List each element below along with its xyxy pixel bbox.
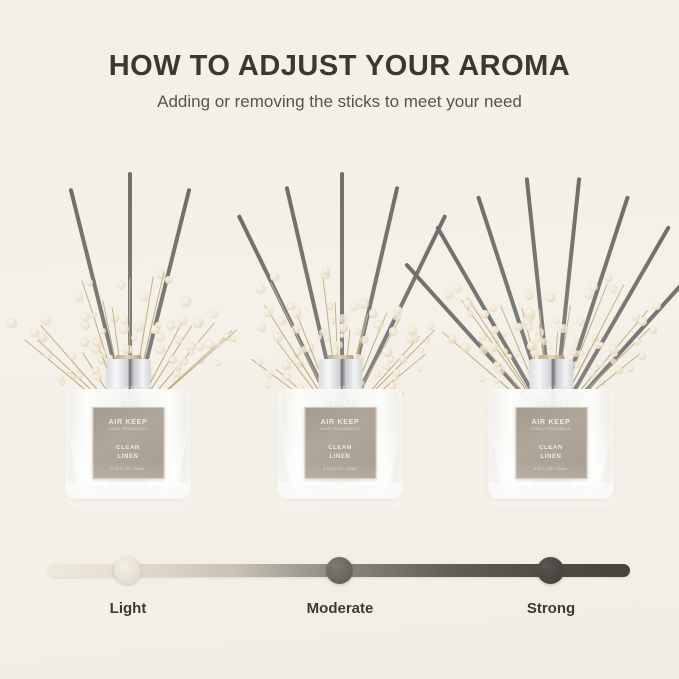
slider-label-strong: Strong: [471, 600, 631, 617]
intensity-slider[interactable]: Light Moderate Strong: [0, 540, 679, 640]
flower-bloom: [650, 327, 657, 334]
flower-bloom: [81, 321, 90, 330]
flower-bloom: [165, 276, 173, 284]
label-brand: AIR KEEP: [321, 419, 360, 426]
flower-bloom: [257, 323, 266, 332]
flower-bloom: [546, 294, 555, 303]
flower-bloom: [76, 372, 83, 379]
flower-bloom: [181, 297, 191, 307]
flower-bloom: [614, 366, 623, 375]
flower-bloom: [577, 318, 584, 325]
slider-knob-strong[interactable]: [537, 557, 564, 584]
flower-bloom: [81, 313, 90, 322]
label-brand-subtitle: HOME FRAGRANCE: [320, 428, 359, 431]
flower-bloom: [388, 356, 394, 362]
label-scent-name: CLEAN LINEN: [539, 444, 563, 461]
label-scent-line1: CLEAN: [539, 445, 563, 451]
product-group-moderate: AIR KEEP AIR KEEP HOME FRAGRANCE CLEAN L…: [225, 99, 455, 499]
flower-bloom: [373, 370, 381, 378]
flower-bloom: [445, 291, 453, 299]
label-brand: AIR KEEP: [109, 419, 148, 426]
label-scent-line2: LINEN: [329, 454, 350, 460]
flower-bloom: [383, 363, 389, 369]
flower-bloom: [609, 285, 617, 293]
bottle-reflection: [489, 461, 614, 507]
flower-bloom: [327, 303, 334, 310]
flower-bloom: [205, 340, 214, 349]
label-scent-line2: LINEN: [117, 454, 138, 460]
flower-bloom: [374, 321, 383, 330]
flower-bloom: [270, 273, 278, 281]
flower-bloom: [453, 284, 462, 293]
flower-bloom: [277, 317, 285, 325]
flower-bloom: [338, 314, 347, 323]
flower-bloom: [256, 358, 263, 365]
flower-bloom: [338, 323, 348, 333]
flower-bloom: [7, 318, 17, 328]
label-brand: AIR KEEP: [532, 419, 571, 426]
product-group-light: AIR KEEP AIR KEEP HOME FRAGRANCE CLEAN L…: [13, 99, 243, 499]
flower-bloom: [525, 324, 532, 331]
flower-bloom: [610, 358, 616, 364]
flower-bloom: [573, 361, 580, 368]
aroma-infographic: HOW TO ADJUST YOUR AROMA Adding or remov…: [0, 0, 679, 679]
label-brand-subtitle: HOME FRAGRANCE: [108, 428, 147, 431]
flower-bloom: [140, 293, 148, 301]
flower-bloom: [324, 335, 330, 341]
flower-bloom: [155, 322, 161, 328]
flower-bloom: [210, 310, 219, 319]
page-title: HOW TO ADJUST YOUR AROMA: [0, 50, 679, 83]
flower-bloom: [334, 349, 340, 355]
flower-bloom: [389, 327, 397, 335]
bottle-reflection: [278, 461, 403, 507]
slider-knob-moderate[interactable]: [326, 557, 353, 584]
flower-bloom: [490, 305, 497, 312]
slider-label-light: Light: [48, 600, 208, 617]
flower-bloom: [502, 332, 507, 337]
flower-bloom: [265, 369, 273, 377]
flower-bloom: [463, 299, 472, 308]
label-scent-name: CLEAN LINEN: [116, 444, 140, 461]
flower-bloom: [173, 362, 182, 371]
flower-bloom: [264, 307, 273, 316]
flower-bloom: [461, 343, 470, 352]
flower-bloom: [117, 281, 125, 289]
flower-bloom: [102, 350, 107, 355]
flower-bloom: [399, 355, 407, 363]
flower-bloom: [634, 338, 641, 345]
flower-bloom: [179, 317, 187, 325]
flower-bloom: [427, 322, 435, 330]
flower-bloom: [256, 284, 266, 294]
flower-bloom: [69, 353, 76, 360]
bottle-reflection: [66, 461, 191, 507]
flower-bloom: [480, 376, 485, 381]
flower-bloom: [369, 309, 378, 318]
flower-bloom: [301, 346, 307, 352]
label-brand-subtitle: HOME FRAGRANCE: [531, 428, 570, 431]
flower-bloom: [75, 293, 83, 301]
diffuser-bottle-strong: AIR KEEP AIR KEEP HOME FRAGRANCE CLEAN L…: [489, 381, 614, 499]
flower-bloom: [525, 291, 534, 300]
flower-bloom: [350, 303, 358, 311]
flower-bloom: [119, 324, 129, 334]
flower-bloom: [282, 361, 291, 370]
flower-bloom: [156, 345, 165, 354]
flower-bloom: [60, 380, 65, 385]
flower-bloom: [547, 345, 552, 350]
flower-bloom: [467, 310, 474, 317]
flower-bloom: [605, 275, 613, 283]
flower-bloom: [417, 366, 422, 371]
flower-bloom: [578, 350, 584, 356]
flower-bloom: [121, 316, 128, 323]
flower-bloom: [627, 365, 634, 372]
flower-bloom: [480, 310, 488, 318]
flower-bloom: [216, 361, 221, 366]
flower-bloom: [175, 336, 184, 345]
flower-bloom: [131, 335, 137, 341]
label-scent-name: CLEAN LINEN: [328, 444, 352, 461]
flower-bloom: [265, 383, 270, 388]
flower-bloom: [195, 342, 204, 351]
flower-bloom: [525, 308, 535, 318]
flower-bloom: [317, 335, 322, 340]
flower-bloom: [340, 333, 345, 338]
flower-bloom: [134, 323, 143, 332]
label-scent-line1: CLEAN: [328, 445, 352, 451]
label-scent-line1: CLEAN: [116, 445, 140, 451]
flower-bloom: [91, 313, 97, 319]
flower-bloom: [101, 328, 106, 333]
diffuser-bottle-moderate: AIR KEEP AIR KEEP HOME FRAGRANCE CLEAN L…: [278, 381, 403, 499]
flower-bloom: [479, 345, 489, 355]
flower-bloom: [156, 333, 165, 342]
flower-bloom: [553, 318, 559, 324]
flower-bloom: [639, 352, 646, 359]
flower-bloom: [496, 366, 505, 375]
flower-bloom: [189, 350, 194, 355]
flower-bloom: [507, 354, 512, 359]
flower-bloom: [513, 350, 519, 356]
slider-label-moderate: Moderate: [260, 600, 420, 617]
flower-bloom: [393, 375, 398, 380]
flower-bloom: [489, 342, 498, 351]
flower-bloom: [609, 344, 618, 353]
flower-bloom: [599, 342, 604, 347]
flower-bloom: [408, 325, 417, 334]
flower-bloom: [393, 313, 401, 321]
flower-bloom: [491, 326, 499, 334]
flower-bloom: [94, 373, 102, 381]
flower-bloom: [293, 309, 301, 317]
flower-bloom: [193, 318, 202, 327]
flower-bloom: [215, 340, 221, 346]
diffuser-bottle-light: AIR KEEP AIR KEEP HOME FRAGRANCE CLEAN L…: [66, 381, 191, 499]
flower-bloom: [42, 316, 51, 325]
flower-bloom: [540, 338, 548, 346]
flower-bloom: [334, 341, 342, 349]
label-scent-line2: LINEN: [540, 454, 561, 460]
flower-bloom: [287, 303, 294, 310]
flower-bloom: [653, 302, 661, 310]
slider-knob-light[interactable]: [114, 557, 141, 584]
flower-bloom: [419, 348, 424, 353]
flower-bloom: [330, 319, 335, 324]
product-group-strong: AIR KEEP AIR KEEP HOME FRAGRANCE CLEAN L…: [436, 99, 666, 499]
flower-bloom: [322, 267, 329, 274]
flower-bloom: [80, 338, 89, 347]
